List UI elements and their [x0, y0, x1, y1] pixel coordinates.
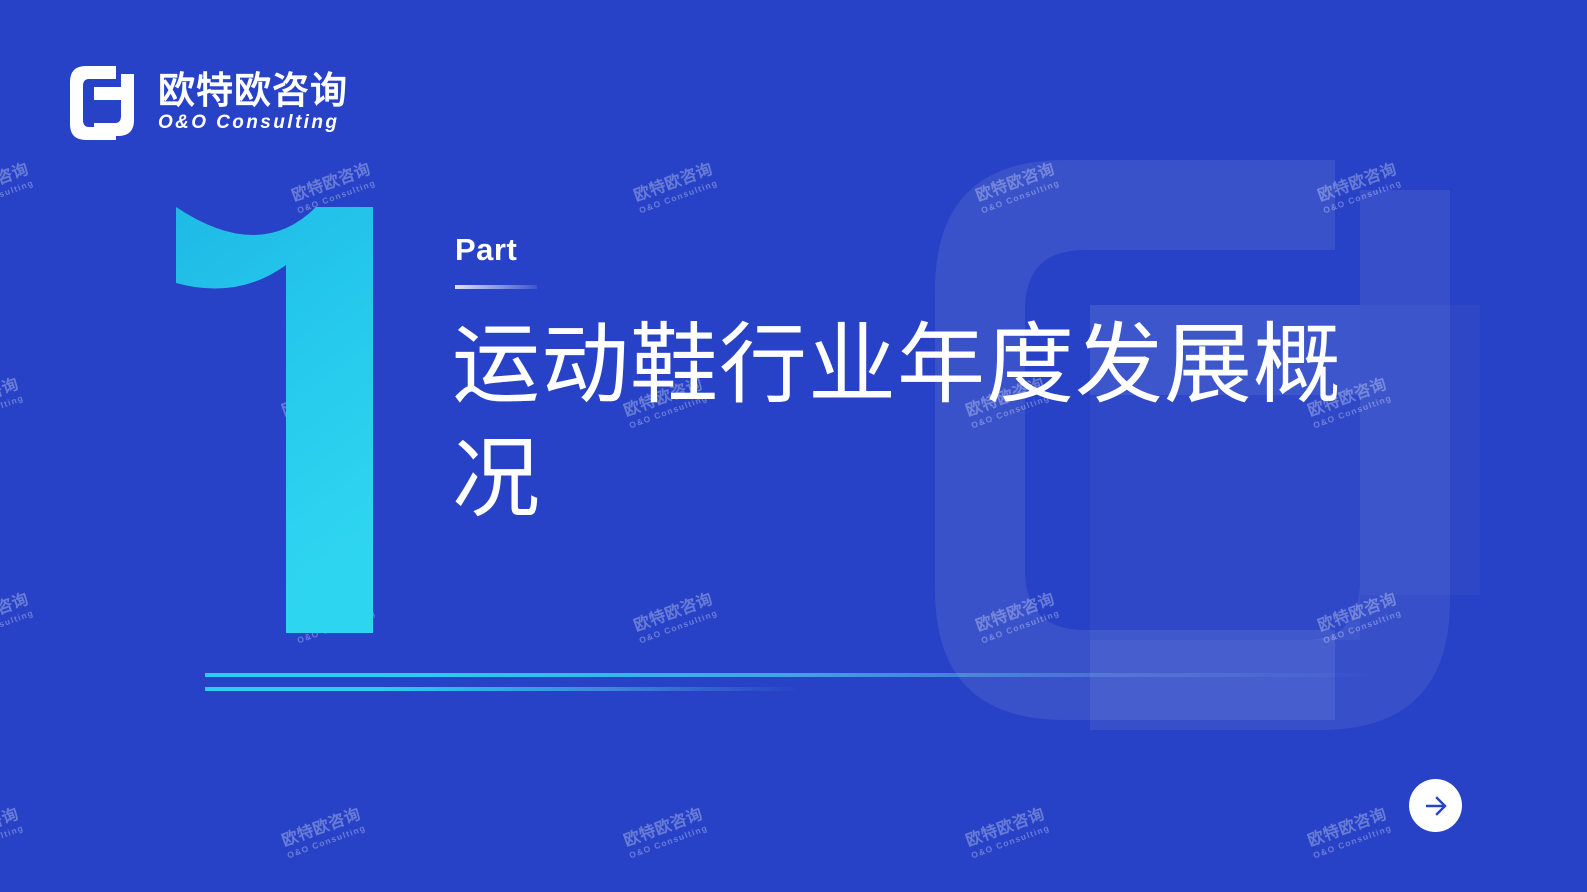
- watermark-tile: 欧特欧咨询O&O Consulting: [0, 807, 25, 860]
- watermark-text-cn: 欧特欧咨询: [0, 807, 22, 851]
- watermark-tile: 欧特欧咨询O&O Consulting: [1306, 807, 1393, 860]
- watermark-text-en: O&O Consulting: [638, 608, 719, 645]
- watermark-text-cn: 欧特欧咨询: [280, 807, 364, 851]
- accent-line-primary: [205, 673, 1380, 677]
- watermark-text-cn: 欧特欧咨询: [1316, 162, 1400, 206]
- part-divider-rule: [455, 285, 537, 289]
- presentation-slide: 欧特欧咨询 O&O Consulting Part 运动鞋行业年度发展概况 欧特…: [0, 0, 1587, 892]
- watermark-text-en: O&O Consulting: [1322, 608, 1403, 645]
- watermark-text-cn: 欧特欧咨询: [0, 592, 32, 636]
- watermark-tile: 欧特欧咨询O&O Consulting: [974, 162, 1061, 215]
- watermark-tile: 欧特欧咨询O&O Consulting: [280, 807, 367, 860]
- watermark-text-en: O&O Consulting: [1322, 178, 1403, 215]
- section-title: 运动鞋行业年度发展概况: [452, 308, 1372, 537]
- watermark-text-en: O&O Consulting: [980, 608, 1061, 645]
- watermark-tile: 欧特欧咨询O&O Consulting: [632, 162, 719, 215]
- watermark-text-cn: 欧特欧咨询: [974, 162, 1058, 206]
- arrow-right-icon: [1421, 791, 1451, 821]
- watermark-text-cn: 欧特欧咨询: [1306, 807, 1390, 851]
- part-label: Part: [455, 234, 537, 265]
- watermark-text-cn: 欧特欧咨询: [290, 162, 374, 206]
- next-slide-button[interactable]: [1409, 779, 1462, 832]
- watermark-text-en: O&O Consulting: [0, 178, 35, 215]
- watermark-text-cn: 欧特欧咨询: [632, 162, 716, 206]
- watermark-text-en: O&O Consulting: [1312, 823, 1393, 860]
- section-number-graphic: [168, 205, 418, 635]
- watermark-tile: 欧特欧咨询O&O Consulting: [1316, 162, 1403, 215]
- watermark-text-en: O&O Consulting: [628, 823, 709, 860]
- watermark-text-cn: 欧特欧咨询: [622, 807, 706, 851]
- watermark-text-en: O&O Consulting: [0, 608, 35, 645]
- watermark-text-cn: 欧特欧咨询: [0, 162, 32, 206]
- watermark-tile: 欧特欧咨询O&O Consulting: [964, 807, 1051, 860]
- watermark-text-en: O&O Consulting: [286, 823, 367, 860]
- watermark-tile: 欧特欧咨询O&O Consulting: [0, 162, 35, 215]
- watermark-text-cn: 欧特欧咨询: [0, 377, 22, 421]
- watermark-text-cn: 欧特欧咨询: [974, 592, 1058, 636]
- watermark-text-cn: 欧特欧咨询: [1316, 592, 1400, 636]
- oo-monogram-icon: [66, 62, 144, 144]
- watermark-tile: 欧特欧咨询O&O Consulting: [632, 592, 719, 645]
- watermark-text-en: O&O Consulting: [980, 178, 1061, 215]
- watermark-tile: 欧特欧咨询O&O Consulting: [622, 807, 709, 860]
- watermark-tile: 欧特欧咨询O&O Consulting: [0, 592, 35, 645]
- brand-name-en: O&O Consulting: [158, 112, 348, 135]
- part-block: Part: [455, 234, 537, 289]
- watermark-tile: 欧特欧咨询O&O Consulting: [1316, 592, 1403, 645]
- brand-name-cn: 欧特欧咨询: [158, 71, 348, 110]
- watermark-tile: 欧特欧咨询O&O Consulting: [974, 592, 1061, 645]
- watermark-text-en: O&O Consulting: [638, 178, 719, 215]
- watermark-tile: 欧特欧咨询O&O Consulting: [0, 377, 25, 430]
- watermark-text-en: O&O Consulting: [970, 823, 1051, 860]
- watermark-text-en: O&O Consulting: [0, 823, 25, 860]
- watermark-text-cn: 欧特欧咨询: [964, 807, 1048, 851]
- accent-line-secondary: [205, 687, 800, 691]
- watermark-text-cn: 欧特欧咨询: [632, 592, 716, 636]
- watermark-text-en: O&O Consulting: [0, 393, 25, 430]
- brand-logo: 欧特欧咨询 O&O Consulting: [66, 62, 348, 144]
